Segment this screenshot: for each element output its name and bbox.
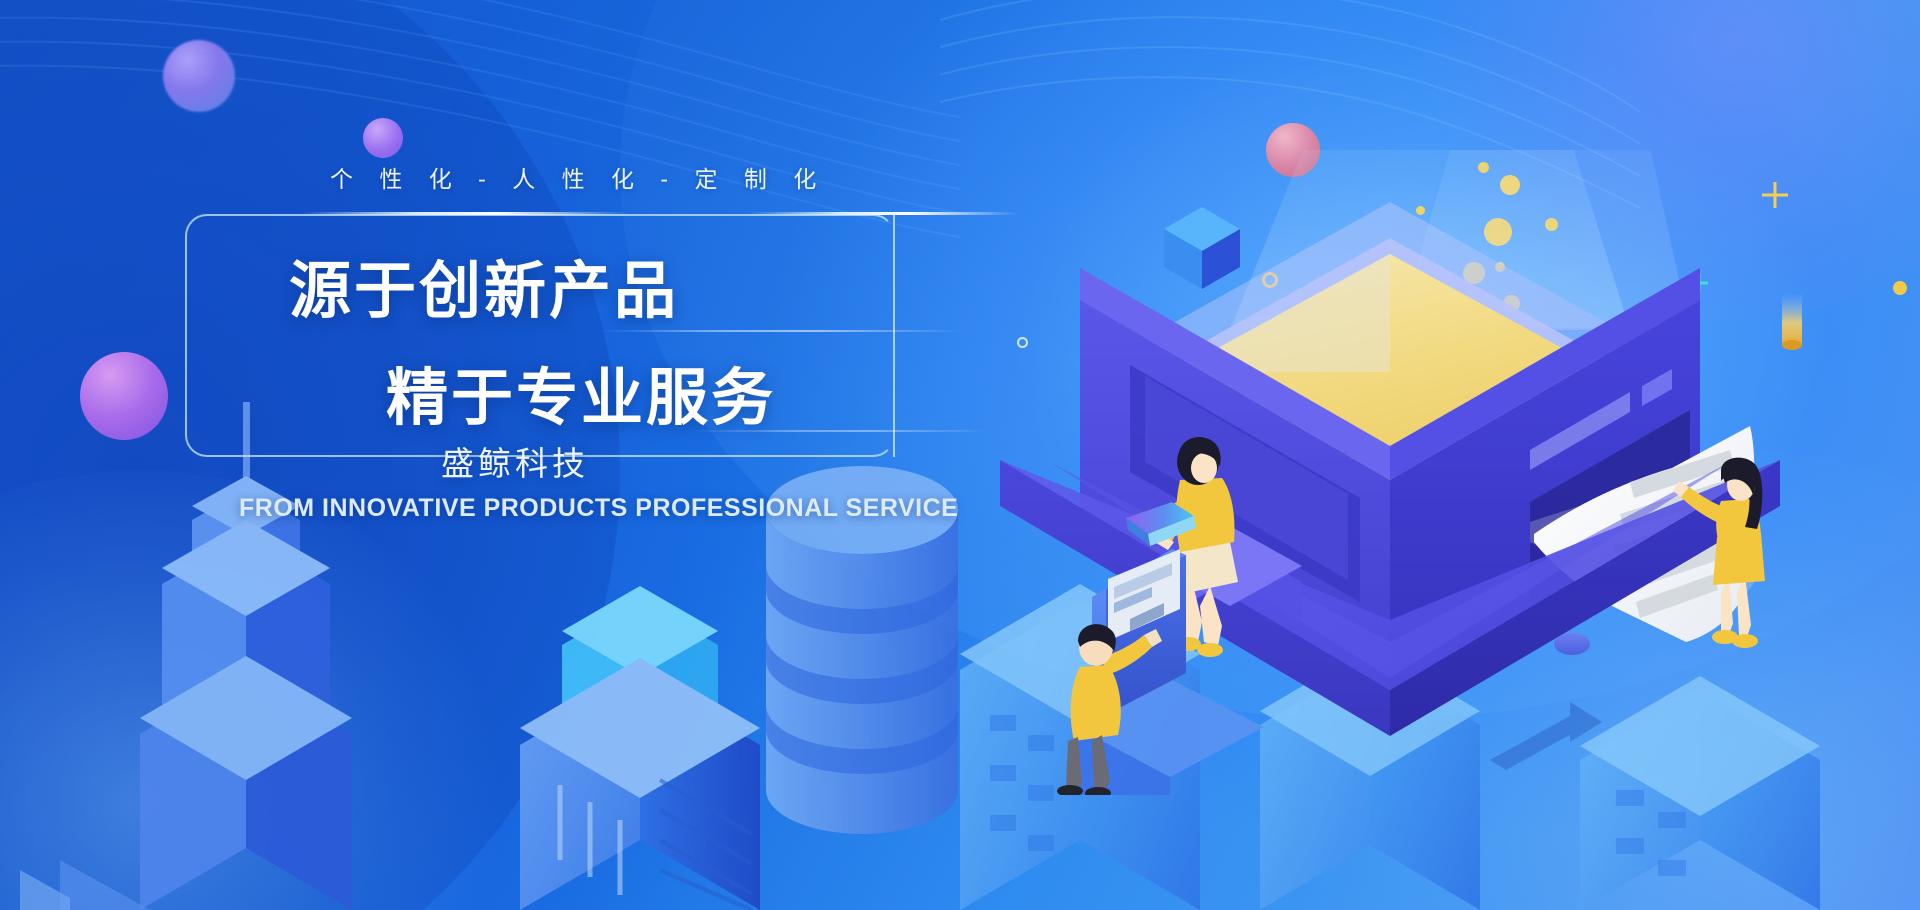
frame-streak-right — [748, 212, 1018, 215]
accent-streak-mid — [600, 330, 960, 332]
tagline: 个 性 化 - 人 性 化 - 定 制 化 — [330, 160, 826, 194]
headline-line-1: 源于创新产品 — [289, 240, 679, 330]
deck-arrow — [1490, 702, 1602, 770]
man-at-kiosk — [1040, 545, 1290, 795]
woman-reaching-paper — [1665, 455, 1855, 655]
brand-name: 盛鲸科技 — [441, 437, 589, 485]
subtitle-english: FROM INNOVATIVE PRODUCTS PROFESSIONAL SE… — [239, 494, 958, 523]
headline-line-2: 精于专业服务 — [386, 347, 776, 437]
hero-banner: 个 性 化 - 人 性 化 - 定 制 化 源于创新产品 精于专业服务 盛鲸科技… — [0, 0, 1920, 910]
frame-streak-left — [300, 212, 630, 215]
